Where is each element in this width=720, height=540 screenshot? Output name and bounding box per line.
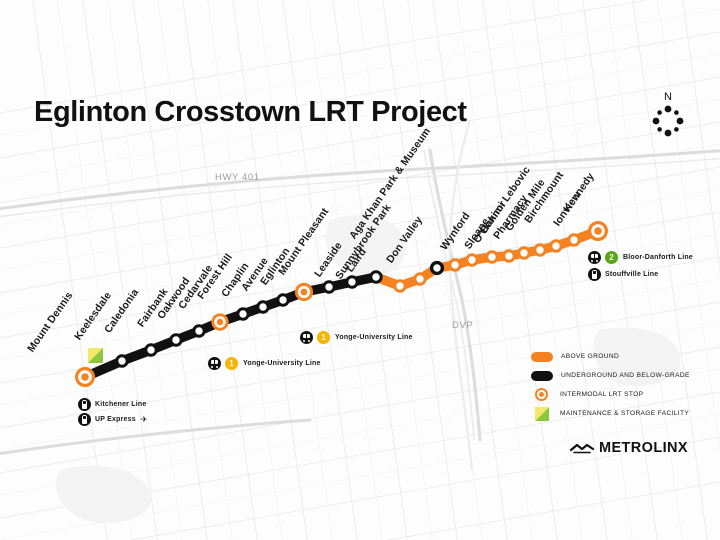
- callout-label: Yonge-University Line: [335, 334, 413, 341]
- legend-label: INTERMODAL LRT STOP: [560, 391, 643, 398]
- callout-label: Stouffville Line: [605, 271, 658, 278]
- legend-label: ABOVE GROUND: [561, 353, 619, 360]
- callout-label: Bloor-Danforth Line: [623, 254, 693, 261]
- ttc-subway-icon: [588, 251, 601, 264]
- callout-up-express[interactable]: UP Express ✈: [78, 413, 148, 426]
- underground-swatch: [531, 371, 553, 381]
- callout-bloor-danforth[interactable]: 2 Bloor-Danforth Line: [588, 251, 693, 264]
- legend-item-underground: UNDERGROUND AND BELOW-GRADE: [531, 367, 699, 384]
- callout-label: UP Express: [95, 416, 136, 423]
- callout-label: Yonge-University Line: [243, 360, 321, 367]
- ttc-subway-icon: [208, 357, 221, 370]
- route-badge-2: 2: [605, 251, 618, 264]
- msf-swatch: [535, 407, 549, 421]
- ttc-subway-icon: [300, 331, 313, 344]
- go-train-icon: [78, 413, 91, 426]
- airplane-icon: ✈: [141, 416, 148, 424]
- station-don-valley: [432, 263, 443, 274]
- metrolinx-wave-icon: [570, 440, 594, 456]
- callout-yonge-university-west[interactable]: 1 Yonge-University Line: [208, 357, 321, 370]
- callout-label: Kitchener Line: [95, 401, 146, 408]
- go-train-icon: [588, 268, 601, 281]
- above-ground-swatch: [531, 352, 553, 362]
- route-badge-1: 1: [225, 357, 238, 370]
- go-train-icon: [78, 398, 91, 411]
- lrt-project-map: Eglinton Crosstown LRT Project N: [0, 0, 720, 540]
- route-badge-1: 1: [317, 331, 330, 344]
- legend-label: MAINTENANCE & STORAGE FACILITY: [560, 410, 689, 417]
- legend-label: UNDERGROUND AND BELOW-GRADE: [561, 372, 690, 379]
- maintenance-storage-facility: [88, 348, 103, 363]
- metrolinx-logo: METROLINX: [570, 440, 688, 456]
- legend-item-intermodal-stop: INTERMODAL LRT STOP: [531, 386, 699, 403]
- map-legend: ABOVE GROUND UNDERGROUND AND BELOW-GRADE…: [531, 348, 699, 424]
- brand-name: METROLINX: [599, 440, 688, 456]
- legend-item-above-ground: ABOVE GROUND: [531, 348, 699, 365]
- intermodal-stop-icon: [535, 388, 548, 401]
- callout-kitchener[interactable]: Kitchener Line: [78, 398, 146, 411]
- legend-item-msf: MAINTENANCE & STORAGE FACILITY: [531, 405, 699, 422]
- callout-stouffville[interactable]: Stouffville Line: [588, 268, 658, 281]
- highway-label-401: HWY 401: [215, 172, 260, 183]
- highway-label-dvp: DVP: [452, 320, 473, 331]
- callout-yonge-university-east[interactable]: 1 Yonge-University Line: [300, 331, 413, 344]
